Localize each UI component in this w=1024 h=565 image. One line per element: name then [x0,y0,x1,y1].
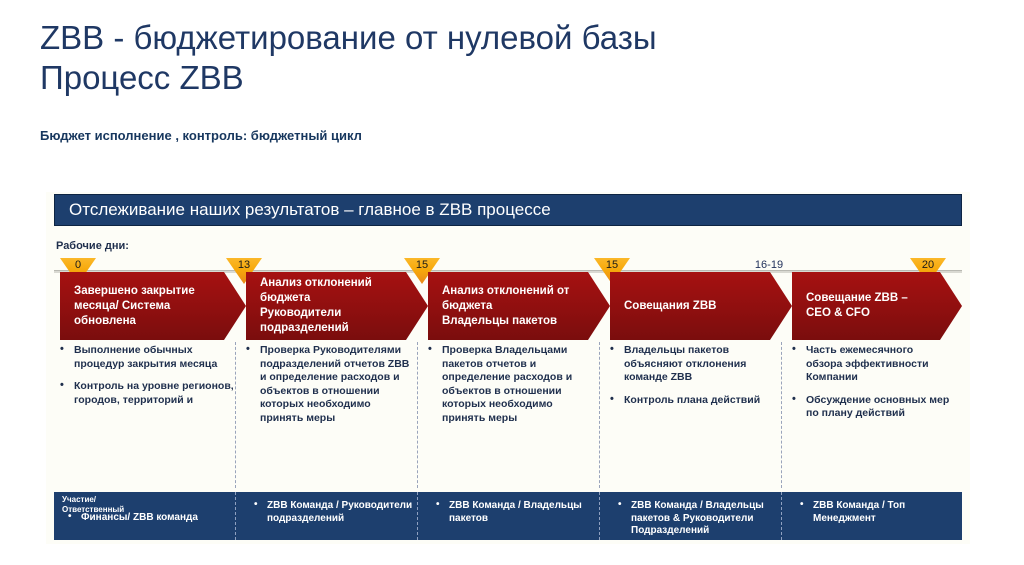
stage-bullet-column: Проверка Владельцами пакетов отчетов и о… [428,344,598,484]
stage-bullet-column: Часть ежемесячного обзора эффективности … [792,344,950,484]
workdays-label: Рабочие дни: [56,240,129,252]
stage-arrow-label: Совещание ZBB – CEO & CFO [792,291,936,321]
timeline-marker-label: 20 [910,259,946,271]
stage-arrow[interactable]: Завершено закрытие месяца/ Система обнов… [60,272,246,340]
timeline-marker-label: 15 [594,259,630,271]
responsibility-cell: Финансы/ ZBB команда [68,512,234,560]
column-divider [417,342,418,488]
stage-bullet-column: Выполнение обычных процедур закрытия мес… [60,344,234,484]
stage-arrow-label: Совещания ZBB [610,299,744,314]
list-item: Обсуждение основных мер по плану действи… [792,394,950,421]
list-item: Проверка Руководителями подразделений от… [246,344,416,425]
responsibility-cell: ZBB Команда / Владельцы пакетов & Руково… [618,500,780,548]
stage-bullet-column: Проверка Руководителями подразделений от… [246,344,416,484]
page-title: ZBB - бюджетирование от нулевой базы Про… [40,18,940,98]
responsibility-cell: ZBB Команда / Руководители подразделений [254,500,416,548]
stage-arrow-label: Завершено закрытие месяца/ Система обнов… [60,284,223,329]
responsibility-divider [781,492,782,540]
list-item: ZBB Команда / Владельцы пакетов & Руково… [618,500,780,538]
stage-arrow[interactable]: Анализ отклонений от бюджета Владельцы п… [428,272,610,340]
stage-arrow[interactable]: Совещания ZBB [610,272,792,340]
stage-bullet-column: Владельцы пакетов объясняют отклонения к… [610,344,780,484]
timeline-marker-label: 13 [226,259,262,271]
responsibility-divider [599,492,600,540]
responsibility-divider [235,492,236,540]
list-item: ZBB Команда / Владельцы пакетов [436,500,598,525]
column-divider [235,342,236,488]
stage-arrow-label: Анализ отклонений бюджета Руководители п… [246,276,400,336]
responsibility-cell: ZBB Команда / Владельцы пакетов [436,500,598,548]
list-item: Проверка Владельцами пакетов отчетов и о… [428,344,598,425]
diagram-header-label: Отслеживание наших результатов – главное… [55,200,551,220]
timeline-marker-label: 15 [404,259,440,271]
list-item: Выполнение обычных процедур закрытия мес… [60,344,234,371]
timeline-marker-label: 16-19 [746,259,792,271]
page-subtitle: Бюджет исполнение , контроль: бюджетный … [40,128,362,143]
column-divider [781,342,782,488]
column-divider [599,342,600,488]
list-item: Контроль плана действий [610,394,780,408]
list-item: Финансы/ ZBB команда [68,512,234,525]
list-item: ZBB Команда / Топ Менеджмент [800,500,950,525]
list-item: Владельцы пакетов объясняют отклонения к… [610,344,780,385]
list-item: ZBB Команда / Руководители подразделений [254,500,416,525]
diagram-header-bar: Отслеживание наших результатов – главное… [54,194,962,226]
stage-arrow-row: Завершено закрытие месяца/ Система обнов… [54,272,962,340]
stage-arrow-label: Анализ отклонений от бюджета Владельцы п… [428,284,597,329]
list-item: Контроль на уровне регионов, городов, те… [60,380,234,407]
zbb-process-diagram: Отслеживание наших результатов – главное… [46,192,970,544]
responsibility-cell: ZBB Команда / Топ Менеджмент [800,500,950,548]
stage-arrow[interactable]: Анализ отклонений бюджета Руководители п… [246,272,428,340]
responsibility-divider [417,492,418,540]
stage-arrow[interactable]: Совещание ZBB – CEO & CFO [792,272,962,340]
list-item: Часть ежемесячного обзора эффективности … [792,344,950,385]
timeline-marker-label: 0 [60,259,96,271]
